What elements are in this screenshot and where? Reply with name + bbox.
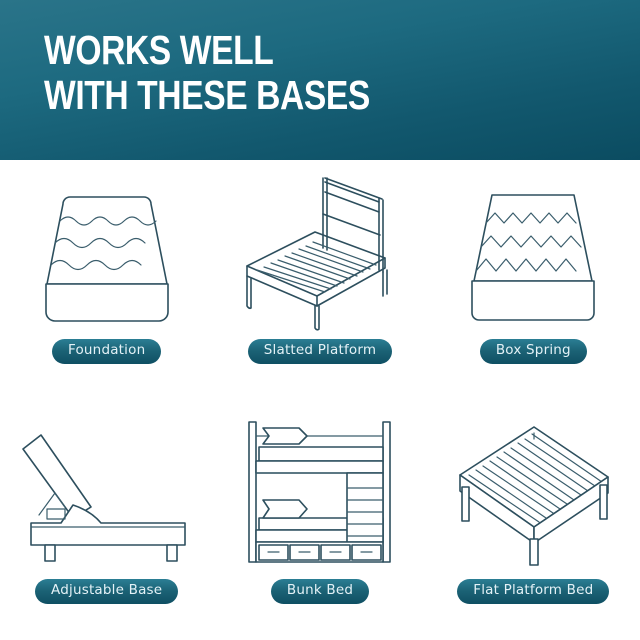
base-item-foundation[interactable]: Foundation [0,160,213,400]
bases-grid: Foundation [0,160,640,640]
base-item-flat-platform-bed[interactable]: Flat Platform Bed [427,400,640,640]
slatted-platform-bed-icon [213,170,426,335]
base-item-adjustable-base[interactable]: Adjustable Base [0,400,213,640]
bunk-bed-cell[interactable]: Bunk Bed [213,400,426,640]
base-label-adjustable-base: Adjustable Base [35,579,178,604]
base-label-foundation: Foundation [52,339,161,364]
base-label-box-spring: Box Spring [480,339,587,364]
page-title: WORKS WELL WITH THESE BASES [44,28,370,118]
base-item-slatted-platform[interactable]: Slatted Platform [213,160,426,400]
base-label-bunk-bed: Bunk Bed [271,579,369,604]
box-spring-icon [427,170,640,335]
base-item-box-spring[interactable]: Box Spring [427,160,640,400]
bunk-bed-icon [213,410,426,575]
flat-platform-bed-icon [427,410,640,575]
adjustable-base-icon [0,410,213,575]
header-banner: WORKS WELL WITH THESE BASES [0,0,640,160]
base-label-flat-platform-bed: Flat Platform Bed [457,579,609,604]
base-label-slatted-platform: Slatted Platform [248,339,392,364]
works-well-with-these-bases-card: WORKS WELL WITH THESE BASES Foundation [0,0,640,640]
foundation-mattress-icon [0,170,213,335]
